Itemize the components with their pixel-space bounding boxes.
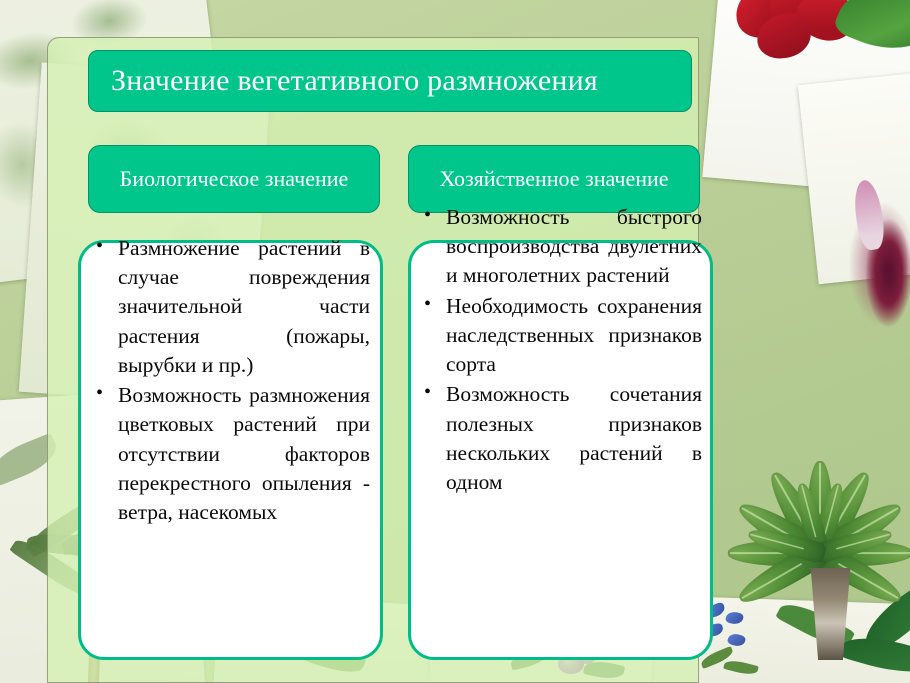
list-item: Возможность быстрого воспроизводства дву… xyxy=(420,203,702,291)
column-heading-biological: Биологическое значение xyxy=(88,145,380,213)
list-item: Возможность сочетания полезных признаков… xyxy=(420,380,702,497)
list-item: Необходимость сохранения наследственных … xyxy=(420,292,702,380)
list-item-text: Необходимость сохранения наследственных … xyxy=(446,292,702,380)
column-heading-label: Биологическое значение xyxy=(120,165,349,193)
list-item-text: Возможность размножения цветковых растен… xyxy=(118,381,370,527)
maroon-flower-illustration xyxy=(838,186,910,336)
agave-succulent-photo xyxy=(712,440,910,665)
list-item: Возможность размножения цветковых растен… xyxy=(92,381,370,527)
list-item-text: Возможность быстрого воспроизводства дву… xyxy=(446,203,702,291)
slide-title-banner: Значение вегетативного размножения xyxy=(88,50,692,112)
bullet-list-economic: Возможность быстрого воспроизводства дву… xyxy=(420,203,702,498)
column-heading-label: Хозяйственное значение xyxy=(439,165,668,193)
list-item: Размножение растений в случае повреждени… xyxy=(92,234,370,380)
slide-canvas: Значение вегетативного размножения Биоло… xyxy=(0,0,910,683)
bullet-list-biological: Размножение растений в случае повреждени… xyxy=(92,234,370,528)
list-item-text: Возможность сочетания полезных признаков… xyxy=(446,380,702,497)
page-title: Значение вегетативного размножения xyxy=(111,66,598,96)
list-item-text: Размножение растений в случае повреждени… xyxy=(118,234,370,380)
